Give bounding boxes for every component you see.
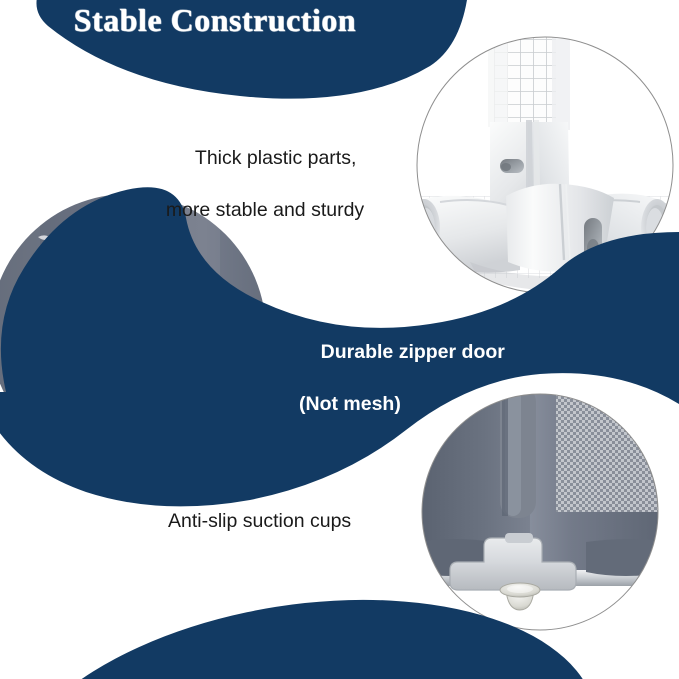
callout-thick-line1: Thick plastic parts,: [195, 147, 356, 169]
callout-thick-plastic-parts: Thick plastic parts, more stable and stu…: [120, 119, 410, 275]
callout-zipper-line1: Durable zipper door: [321, 341, 505, 363]
callout-anti-slip-suction-cups: Anti-slip suction cups: [168, 508, 468, 534]
page-title: Stable Construction: [0, 2, 430, 39]
callout-thick-line2: more stable and sturdy: [120, 197, 410, 223]
callout-zipper-line2: (Not mesh): [299, 391, 569, 417]
callout-durable-zipper-door: Durable zipper door (Not mesh): [299, 313, 569, 469]
infographic-page: Stable Construction Thick plastic parts,…: [0, 0, 679, 679]
